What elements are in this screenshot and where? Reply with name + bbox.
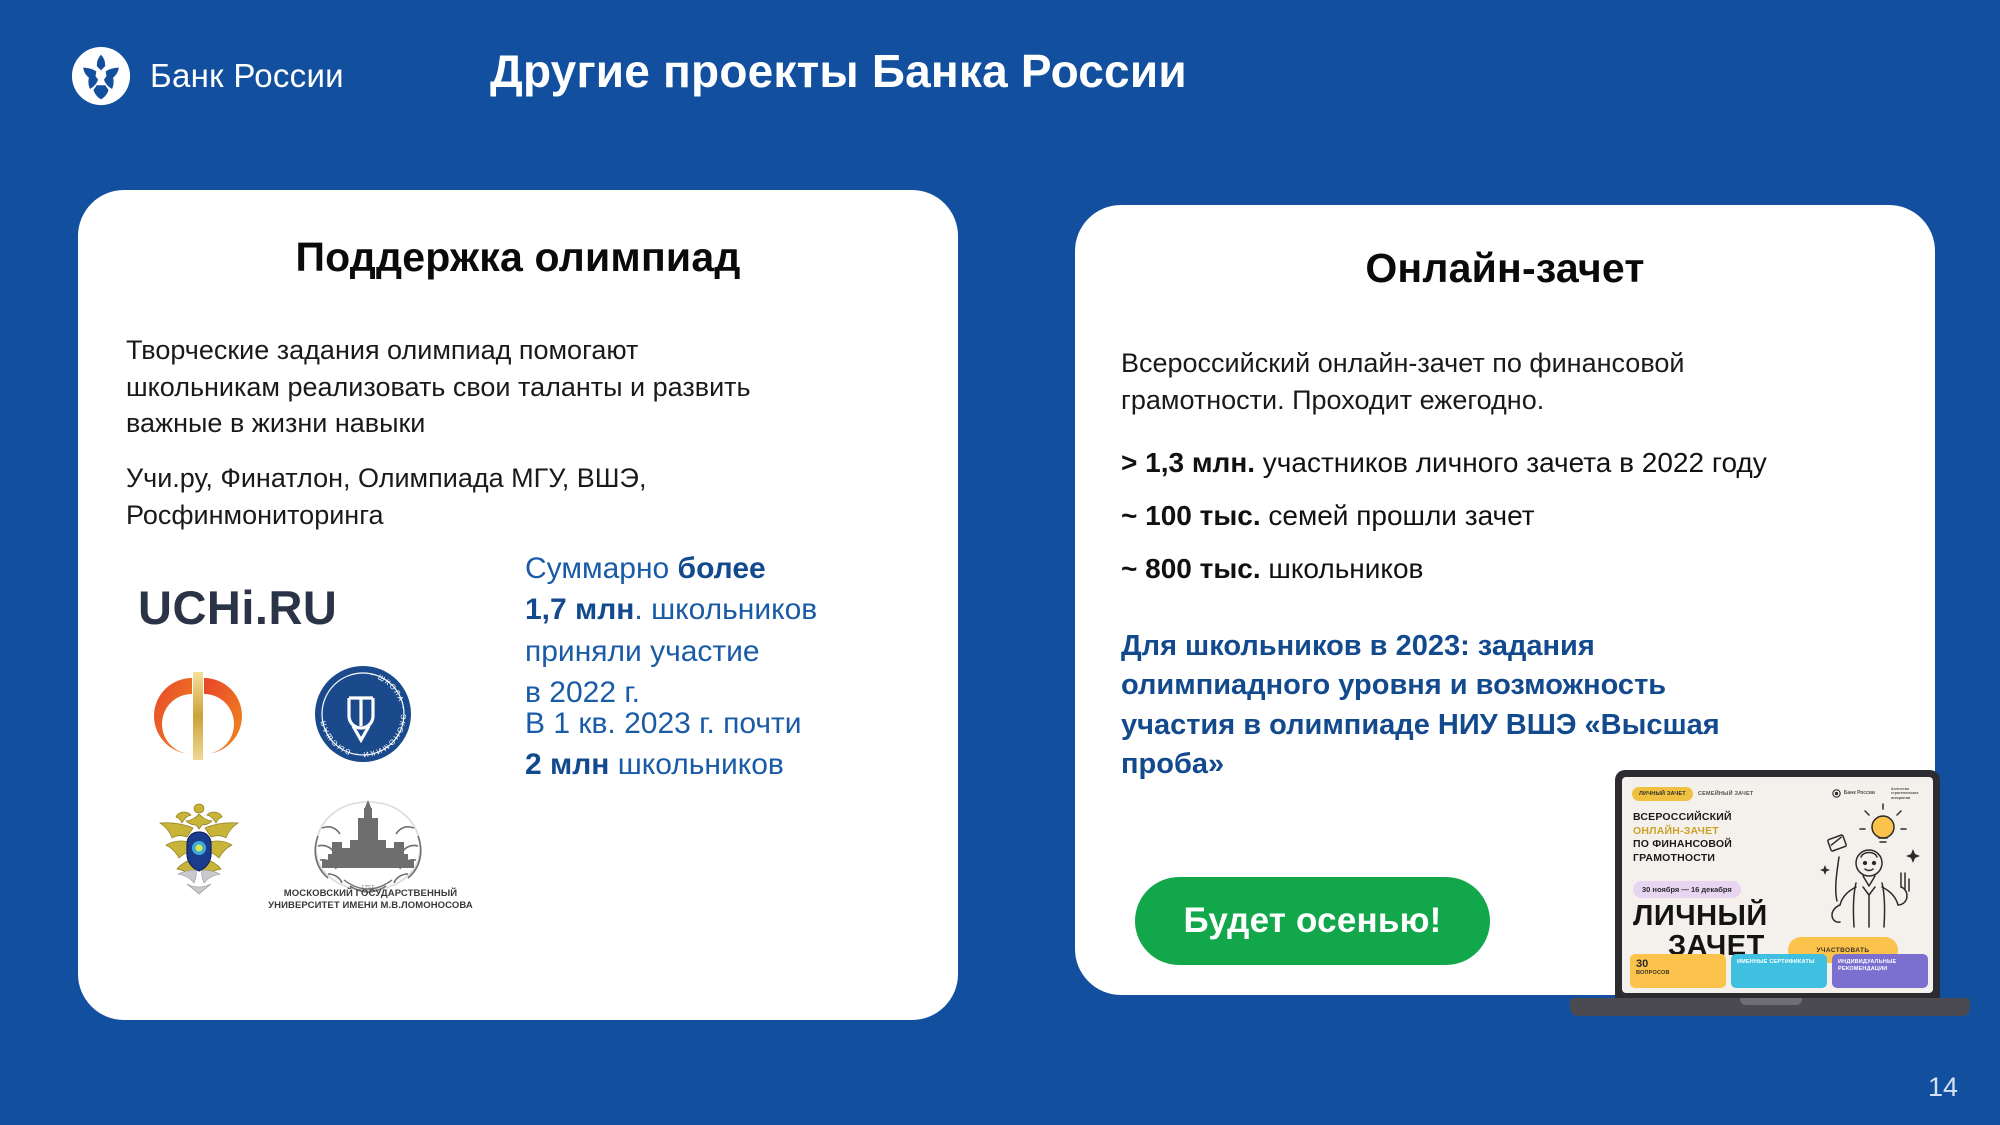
mock-card-1-value: 30 [1636,959,1720,970]
hse-logo: · ШКОЛА · ЭКОНОМИКИ · ВЫСШАЯ [313,664,413,764]
card-olympiad-support: Поддержка олимпиад Творческие задания ол… [78,190,958,1020]
card-title-left: Поддержка олимпиад [78,234,958,281]
mock-date-badge: 30 ноября — 16 декабря [1633,881,1741,898]
mock-card-3-label: ИНДИВИДУАЛЬНЫЕ РЕКОМЕНДАЦИИ [1838,959,1922,973]
kpi-1-value: > 1,3 млн. [1121,447,1255,478]
mock-bank-emblem-icon [1832,789,1841,798]
kpi-participants-2022: > 1,3 млн. участников личного зачета в 2… [1121,445,1767,481]
kpi-3-label: школьников [1261,553,1424,584]
right-highlight-text: Для школьников в 2023: задания олимпиадн… [1121,627,1781,785]
mock-heading-line-3: ПО ФИНАНСОВОЙ [1633,838,1763,852]
mock-card-recommendations: ИНДИВИДУАЛЬНЫЕ РЕКОМЕНДАЦИИ [1832,954,1928,988]
stat1-line1-bold: более [678,552,766,585]
card-title-right: Онлайн-зачет [1075,245,1935,292]
mock-brand-logos: Банк России Агентство стратегических ини… [1832,787,1925,800]
stat1-line2-plain: . школьников [634,593,817,626]
slide-header: Банк России Другие проекты Банка России [0,0,2000,150]
right-paragraph-1: Всероссийский онлайн-зачет по финансовой… [1121,345,1811,418]
mock-tab-family[interactable]: СЕМЕЙНЫЙ ЗАЧЕТ [1698,791,1753,797]
mock-tab-personal[interactable]: ЛИЧНЫЙ ЗАЧЕТ [1632,787,1693,801]
stat2-line2-bold: 2 млн [525,748,609,781]
stat2-line2-plain: школьников [609,748,783,781]
mock-feature-cards: 30 ВОПРОСОВ ИМЕННЫЕ СЕРТИФИКАТЫ ИНДИВИДУ… [1630,954,1928,988]
partner-logo-row-1: · ШКОЛА · ЭКОНОМИКИ · ВЫСШАЯ [118,662,448,772]
page-number: 14 [1928,1072,1958,1103]
kpi-2-value: ~ 100 тыс. [1121,500,1261,531]
laptop-screen: ЛИЧНЫЙ ЗАЧЕТ СЕМЕЙНЫЙ ЗАЧЕТ Банк России … [1622,777,1933,993]
mock-card-questions: 30 ВОПРОСОВ [1630,954,1726,988]
mock-brand-1: Банк России [1844,790,1875,796]
brand-lockup: Банк России [70,45,344,107]
slide: Банк России Другие проекты Банка России … [0,0,2000,1125]
mock-headline-1: ЛИЧНЫЙ [1633,903,1768,931]
brand-name: Банк России [150,57,344,95]
mock-heading-line-4: ГРАМОТНОСТИ [1633,852,1763,866]
mock-brand-2: Агентство стратегических инициатив [1891,787,1925,800]
mock-card-certificates: ИМЕННЫЕ СЕРТИФИКАТЫ [1731,954,1827,988]
kpi-3-value: ~ 800 тыс. [1121,553,1261,584]
msu-logo-caption: МОСКОВСКИЙ ГОСУДАРСТВЕННЫЙ УНИВЕРСИТЕТ И… [268,888,473,912]
uchiru-logo: UCHi.RU [138,580,337,635]
mock-heading-line-2: ОНЛАЙН-ЗАЧЕТ [1633,825,1763,839]
stat1-line1-plain: Суммарно [525,552,678,585]
left-paragraph-2: Учи.ру, Финатлон, Олимпиада МГУ, ВШЭ, Ро… [126,460,786,533]
laptop-mockup: ЛИЧНЫЙ ЗАЧЕТ СЕМЕЙНЫЙ ЗАЧЕТ Банк России … [1570,770,1970,1060]
left-stat-q1-2023: В 1 кв. 2023 г. почти 2 млн школьников [525,703,925,786]
left-paragraph-1: Творческие задания олимпиад помогают шко… [126,332,786,442]
mock-card-1-label: ВОПРОСОВ [1636,970,1720,977]
page-title: Другие проекты Банка России [490,44,1187,98]
kpi-2-label: семей прошли зачет [1261,500,1535,531]
finatlon-logo [148,668,248,764]
stat1-line3: приняли участие [525,635,760,668]
autumn-cta-button[interactable]: Будет осенью! [1135,877,1490,965]
mock-heading-line-1: ВСЕРОССИЙСКИЙ [1633,811,1763,825]
stat1-line2-bold: 1,7 млн [525,593,634,626]
laptop-lid: ЛИЧНЫЙ ЗАЧЕТ СЕМЕЙНЫЙ ЗАЧЕТ Банк России … [1615,770,1940,1000]
kpi-schoolchildren: ~ 800 тыс. школьников [1121,551,1423,587]
mock-heading: ВСЕРОССИЙСКИЙ ОНЛАЙН-ЗАЧЕТ ПО ФИНАНСОВОЙ… [1633,811,1763,866]
stat2-line1: В 1 кв. 2023 г. почти [525,707,802,740]
mock-card-2-label: ИМЕННЫЕ СЕРТИФИКАТЫ [1737,959,1821,966]
laptop-notch [1740,998,1802,1005]
rosfinmonitoring-logo [140,790,258,900]
left-stat-participation-2022: Суммарно более 1,7 млн. школьников приня… [525,548,925,714]
bank-of-russia-emblem-icon [70,45,132,107]
kpi-families: ~ 100 тыс. семей прошли зачет [1121,498,1535,534]
people-illustration-icon [1809,803,1927,933]
kpi-1-label: участников личного зачета в 2022 году [1255,447,1767,478]
partner-logo-row-2: 1755 МОСКОВСКИЙ ГОСУДАРСТВЕННЫЙ УНИВЕРСИ… [118,790,458,930]
